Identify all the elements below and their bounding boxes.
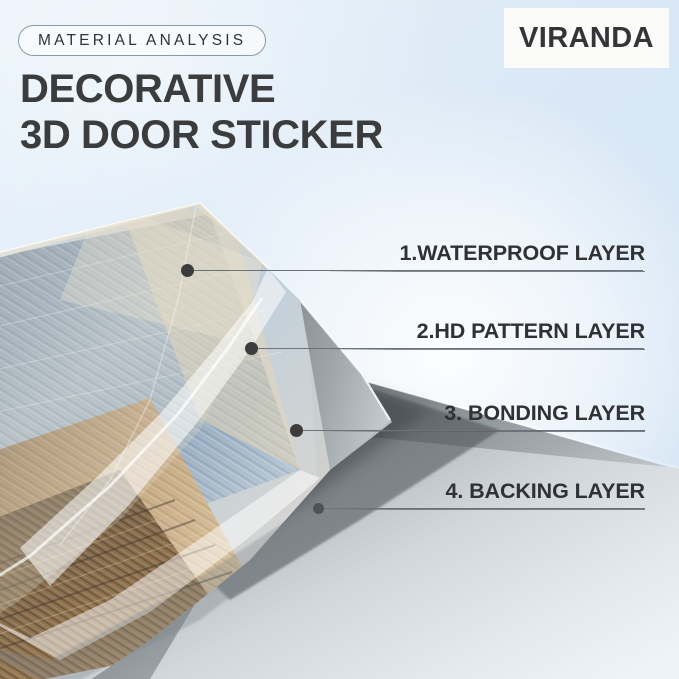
callout-rule-1 [330,271,645,272]
callout-label-1: 1.WATERPROOF LAYER [330,240,645,266]
title-line-1: DECORATIVE [20,66,383,112]
callout-bonding: 3. BONDING LAYER [330,400,645,432]
brand-name: VIRANDA [519,22,654,55]
callout-label-4: 4. BACKING LAYER [330,478,645,504]
callout-backing: 4. BACKING LAYER [330,478,645,510]
callout-rule-3 [330,431,645,432]
material-analysis-badge: MATERIAL ANALYSIS [18,25,266,56]
callout-label-3: 3. BONDING LAYER [330,400,645,426]
poster-header: MATERIAL ANALYSIS DECORATIVE 3D DOOR STI… [0,0,679,175]
callout-label-2: 2.HD PATTERN LAYER [330,318,645,344]
page-title: DECORATIVE 3D DOOR STICKER [20,66,383,158]
leader-dot-3 [290,424,303,437]
callout-rule-2 [330,349,645,350]
callout-hd-pattern: 2.HD PATTERN LAYER [330,318,645,350]
poster-canvas: MATERIAL ANALYSIS DECORATIVE 3D DOOR STI… [0,0,679,679]
title-line-2: 3D DOOR STICKER [20,112,383,158]
brand-logo: VIRANDA [504,8,669,68]
badge-label: MATERIAL ANALYSIS [38,32,246,50]
leader-dot-1 [181,264,194,277]
callout-rule-4 [330,509,645,510]
leader-dot-4 [313,503,324,514]
leader-dot-2 [245,342,258,355]
callout-waterproof: 1.WATERPROOF LAYER [330,240,645,272]
